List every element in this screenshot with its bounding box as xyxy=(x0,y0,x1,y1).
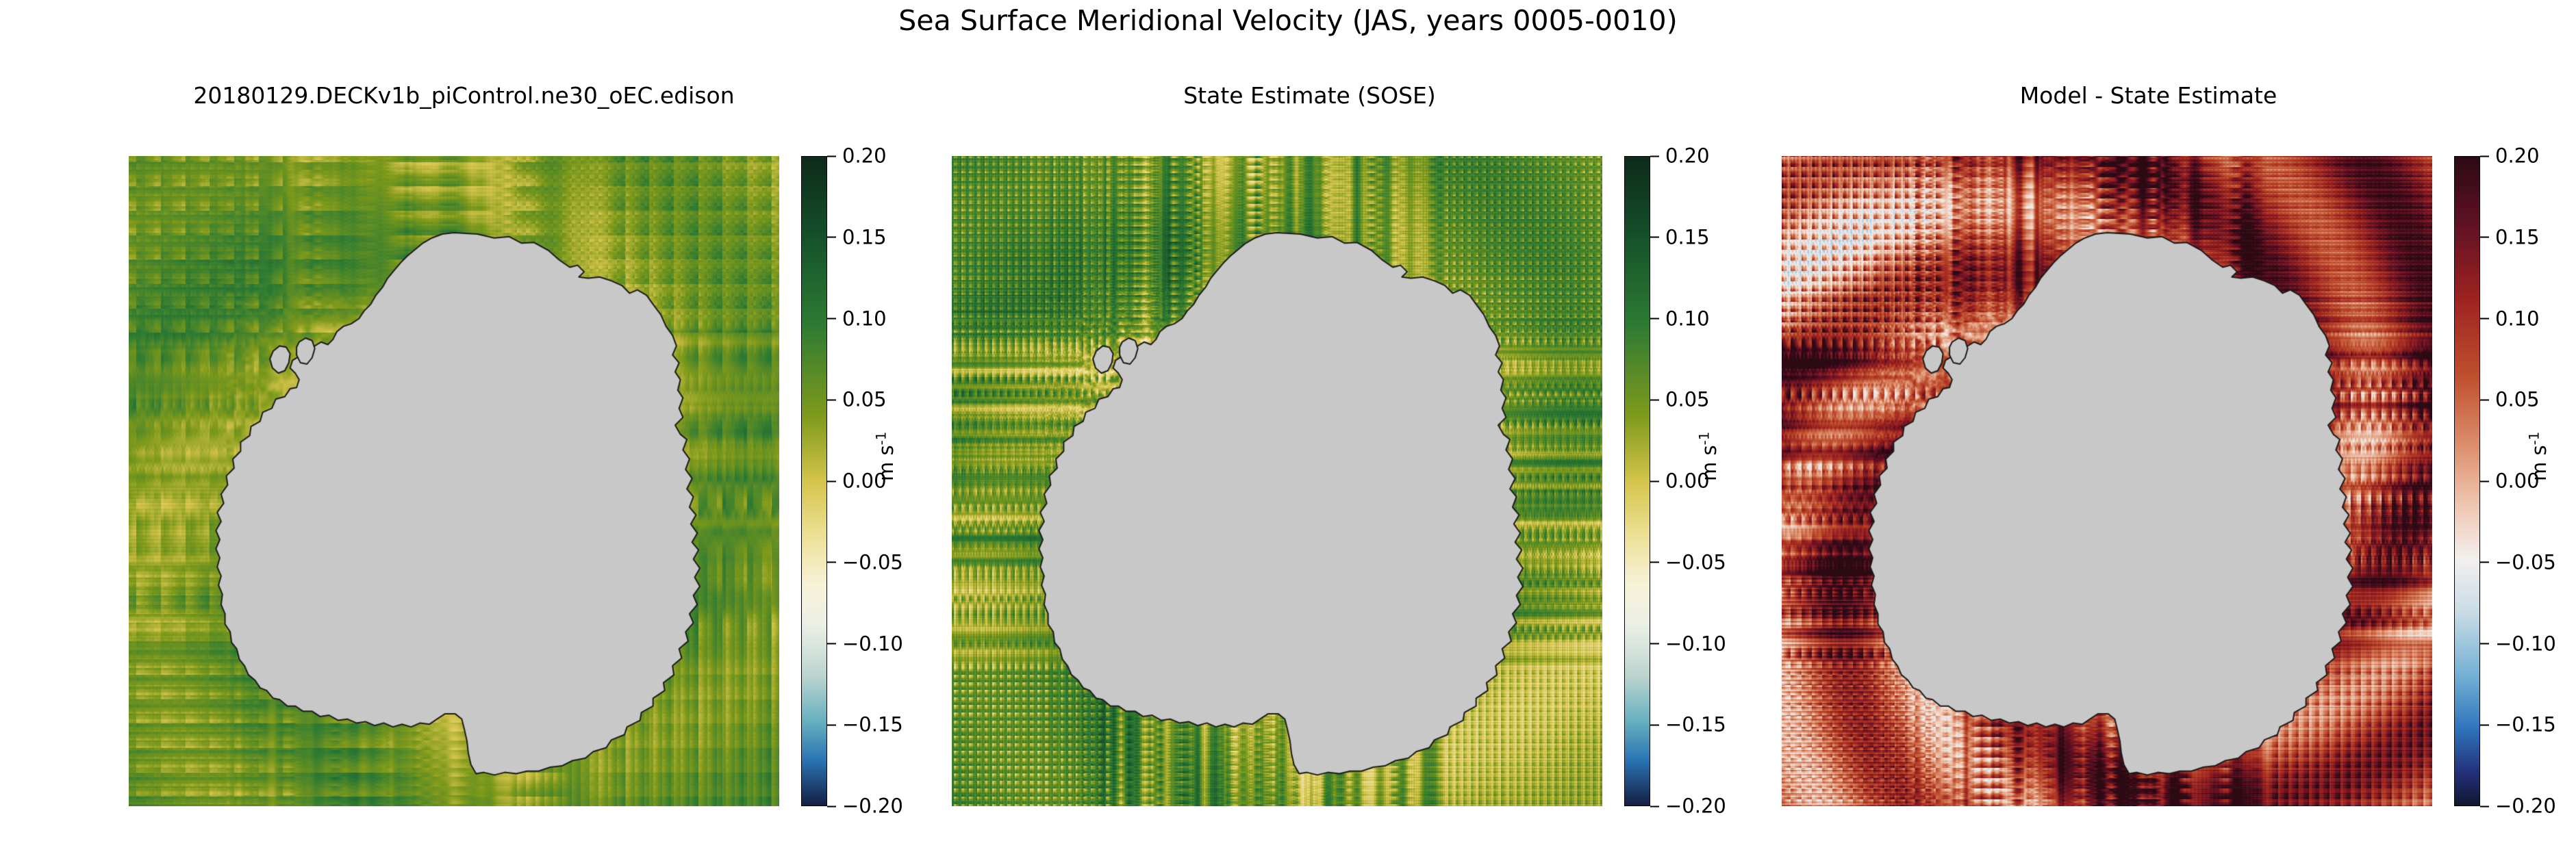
colorbar-unit-exponent: -1 xyxy=(1696,432,1712,446)
colorbar-tick-mark xyxy=(2480,318,2489,320)
colorbar-tick: −0.20 xyxy=(1650,797,1726,816)
colorbar-tick-label: −0.15 xyxy=(2495,715,2556,735)
colorbar-tick-label: −0.05 xyxy=(1665,552,1726,572)
colorbar-tick: −0.15 xyxy=(2480,715,2556,735)
colorbar-tick: 0.05 xyxy=(2480,390,2540,410)
colorbar-tick: 0.20 xyxy=(1650,146,1710,166)
colorbar-tick-label: 0.20 xyxy=(1665,146,1710,166)
panel-title-model: 20180129.DECKv1b_piControl.ne30_oEC.edis… xyxy=(41,82,887,109)
map-heatmap-state-estimate[interactable] xyxy=(952,156,1602,806)
colorbar-gradient-model-minus-state-estimate xyxy=(2454,156,2480,806)
colorbar-tick: 0.15 xyxy=(827,227,887,247)
panel-model-minus-state-estimate: Model - State Estimate 0.200.150.100.050… xyxy=(1726,66,2571,832)
colorbar-tick-label: 0.15 xyxy=(2495,227,2540,247)
colorbar-tick-mark xyxy=(827,562,836,563)
map-axes-model[interactable] xyxy=(129,156,779,806)
colorbar-tick-mark xyxy=(1650,724,1659,725)
colorbar-tick-label: −0.20 xyxy=(1665,797,1726,816)
colorbar-unit-label-state-estimate: m s-1 xyxy=(1697,432,1721,481)
panel-model: 20180129.DECKv1b_piControl.ne30_oEC.edis… xyxy=(41,66,887,832)
map-heatmap-model[interactable] xyxy=(129,156,779,806)
colorbar-tick: 0.15 xyxy=(1650,227,1710,247)
colorbar-tick-mark xyxy=(827,480,836,482)
colorbar-tick-mark xyxy=(2480,562,2489,563)
colorbar-tick: 0.10 xyxy=(1650,309,1710,329)
colorbar-tick-mark xyxy=(2480,643,2489,645)
colorbar-ticks-model-minus-state-estimate: 0.200.150.100.050.00−0.05−0.10−0.15−0.20 xyxy=(2480,156,2576,806)
colorbar-tick-label: −0.05 xyxy=(2495,552,2556,572)
colorbar-tick: −0.10 xyxy=(2480,634,2556,654)
colorbar-tick-mark xyxy=(1650,562,1659,563)
panel-title-state-estimate: State Estimate (SOSE) xyxy=(887,82,1732,109)
colorbar-tick: 0.10 xyxy=(827,309,887,329)
colorbar-model-minus-state-estimate[interactable]: 0.200.150.100.050.00−0.05−0.10−0.15−0.20… xyxy=(2454,156,2576,806)
colorbar-tick-mark xyxy=(827,399,836,400)
colorbar-tick-mark xyxy=(827,237,836,238)
map-axes-model-minus-state-estimate[interactable] xyxy=(1782,156,2432,806)
colorbar-tick: 0.10 xyxy=(2480,309,2540,329)
colorbar-tick-mark xyxy=(827,318,836,320)
colorbar-tick-mark xyxy=(1650,155,1659,157)
colorbar-tick-mark xyxy=(1650,318,1659,320)
colorbar-tick-label: 0.15 xyxy=(842,227,887,247)
colorbar-tick-mark xyxy=(2480,237,2489,238)
colorbar-tick-mark xyxy=(1650,806,1659,807)
colorbar-tick: 0.20 xyxy=(2480,146,2540,166)
colorbar-tick: 0.05 xyxy=(827,390,887,410)
colorbar-tick-mark xyxy=(1650,237,1659,238)
colorbar-tick-label: −0.15 xyxy=(1665,715,1726,735)
colorbar-unit-exponent: -1 xyxy=(2526,432,2542,446)
colorbar-gradient-model xyxy=(801,156,827,806)
colorbar-tick: 0.05 xyxy=(1650,390,1710,410)
colorbar-tick-mark xyxy=(1650,643,1659,645)
panel-title-model-minus-state-estimate: Model - State Estimate xyxy=(1726,82,2571,109)
colorbar-tick: 0.20 xyxy=(827,146,887,166)
colorbar-tick-mark xyxy=(2480,480,2489,482)
colorbar-tick-label: 0.10 xyxy=(842,309,887,329)
colorbar-tick-mark xyxy=(827,806,836,807)
colorbar-tick-label: 0.05 xyxy=(2495,390,2540,410)
colorbar-tick-mark xyxy=(2480,724,2489,725)
colorbar-tick-mark xyxy=(827,724,836,725)
colorbar-tick-mark xyxy=(827,155,836,157)
colorbar-unit-text: m s xyxy=(1697,445,1721,481)
map-axes-state-estimate[interactable] xyxy=(952,156,1602,806)
colorbar-tick: −0.05 xyxy=(1650,552,1726,572)
colorbar-tick-label: 0.05 xyxy=(1665,390,1710,410)
colorbar-tick: −0.15 xyxy=(1650,715,1726,735)
colorbar-tick-label: 0.05 xyxy=(842,390,887,410)
colorbar-tick-label: −0.10 xyxy=(1665,634,1726,654)
colorbar-tick-label: 0.20 xyxy=(842,146,887,166)
colorbar-tick: −0.10 xyxy=(1650,634,1726,654)
colorbar-tick-label: −0.10 xyxy=(2495,634,2556,654)
figure-title: Sea Surface Meridional Velocity (JAS, ye… xyxy=(0,4,2576,37)
colorbar-tick: −0.05 xyxy=(2480,552,2556,572)
panel-state-estimate: State Estimate (SOSE) 0.200.150.100.050.… xyxy=(887,66,1732,832)
colorbar-tick-mark xyxy=(827,643,836,645)
colorbar-tick-mark xyxy=(2480,155,2489,157)
colorbar-tick-label: 0.20 xyxy=(2495,146,2540,166)
colorbar-unit-label-model-minus-state-estimate: m s-1 xyxy=(2527,432,2551,481)
colorbar-unit-text: m s xyxy=(2527,445,2551,481)
colorbar-tick-label: −0.20 xyxy=(2495,797,2556,816)
colorbar-tick: −0.20 xyxy=(2480,797,2556,816)
colorbar-tick-mark xyxy=(2480,806,2489,807)
map-heatmap-model-minus-state-estimate[interactable] xyxy=(1782,156,2432,806)
colorbar-tick-label: 0.10 xyxy=(1665,309,1710,329)
colorbar-tick-mark xyxy=(1650,399,1659,400)
colorbar-gradient-state-estimate xyxy=(1624,156,1650,806)
colorbar-tick-mark xyxy=(2480,399,2489,400)
colorbar-tick-label: 0.15 xyxy=(1665,227,1710,247)
colorbar-tick: 0.15 xyxy=(2480,227,2540,247)
colorbar-tick-mark xyxy=(1650,480,1659,482)
colorbar-tick-label: 0.10 xyxy=(2495,309,2540,329)
